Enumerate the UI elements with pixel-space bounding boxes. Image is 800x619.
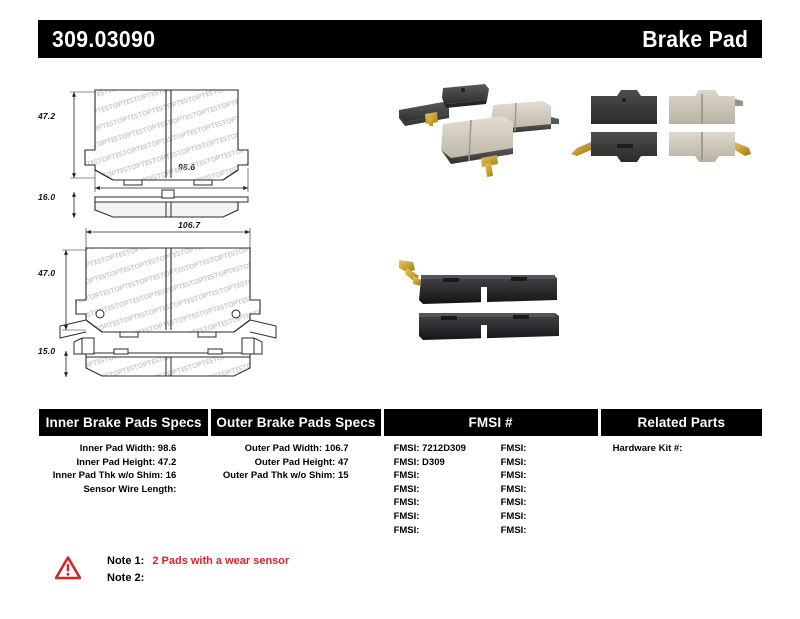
edge-profile-pad-photo <box>385 242 575 352</box>
related-parts-column: Hardware Kit #: <box>601 442 762 537</box>
header-outer-specs: Outer Brake Pads Specs <box>211 409 380 436</box>
fmsi-row: FMSI: D309 <box>384 456 491 470</box>
fmsi-row: FMSI: <box>491 483 598 497</box>
note-1-label: Note 1: <box>107 555 144 567</box>
angled-pad-set-photo <box>385 72 575 182</box>
page-header-bar: 309.03090 Brake Pad <box>38 20 762 58</box>
fmsi-row: FMSI: <box>491 469 598 483</box>
fmsi-row: FMSI: <box>384 524 491 538</box>
table-header-row: Inner Brake Pads Specs Outer Brake Pads … <box>39 409 762 436</box>
related-part-row: Hardware Kit #: <box>601 442 762 456</box>
part-number: 309.03090 <box>52 26 155 53</box>
pad-outline-drawings: STOPTECH <box>38 70 378 390</box>
warning-triangle-icon <box>55 556 81 580</box>
fmsi-column: FMSI: 7212D309 FMSI: D309 FMSI: FMSI: FM… <box>384 442 598 537</box>
specifications-table: Inner Brake Pads Specs Outer Brake Pads … <box>39 409 762 534</box>
note-1-line: Note 1: 2 Pads with a wear sensor <box>107 553 289 570</box>
outer-specs-column: Outer Pad Width: 106.7 Outer Pad Height:… <box>211 442 380 537</box>
fmsi-row: FMSI: <box>491 442 598 456</box>
fmsi-row: FMSI: <box>491 510 598 524</box>
fmsi-subcolumn-right: FMSI: FMSI: FMSI: FMSI: FMSI: FMSI: FMSI… <box>491 442 598 537</box>
header-inner-specs: Inner Brake Pads Specs <box>39 409 208 436</box>
fmsi-row: FMSI: <box>491 496 598 510</box>
header-related-parts: Related Parts <box>601 409 762 436</box>
inner-spec-row: Sensor Wire Length: <box>39 483 208 497</box>
outer-spec-row: Outer Pad Thk w/o Shim: 15 <box>211 469 380 483</box>
inner-spec-row: Inner Pad Height: 47.2 <box>39 456 208 470</box>
table-body: Inner Pad Width: 98.6 Inner Pad Height: … <box>39 442 762 537</box>
inner-spec-row: Inner Pad Width: 98.6 <box>39 442 208 456</box>
note-1-value: 2 Pads with a wear sensor <box>152 555 289 567</box>
product-photos-panel <box>385 72 775 382</box>
fmsi-row: FMSI: 7212D309 <box>384 442 491 456</box>
fmsi-row: FMSI: <box>384 510 491 524</box>
fmsi-row: FMSI: <box>491 524 598 538</box>
inner-spec-row: Inner Pad Thk w/o Shim: 16 <box>39 469 208 483</box>
fmsi-row: FMSI: <box>491 456 598 470</box>
fmsi-subcolumn-left: FMSI: 7212D309 FMSI: D309 FMSI: FMSI: FM… <box>384 442 491 537</box>
top-down-pad-set-photo <box>565 72 755 182</box>
outer-spec-row: Outer Pad Width: 106.7 <box>211 442 380 456</box>
fmsi-row: FMSI: <box>384 469 491 483</box>
header-fmsi: FMSI # <box>384 409 598 436</box>
note-2-label: Note 2: <box>107 572 144 584</box>
outer-spec-row: Outer Pad Height: 47 <box>211 456 380 470</box>
product-type-label: Brake Pad <box>642 26 748 53</box>
note-2-line: Note 2: <box>107 570 289 587</box>
notes-section: Note 1: 2 Pads with a wear sensor Note 2… <box>55 553 289 587</box>
fmsi-row: FMSI: <box>384 496 491 510</box>
fmsi-row: FMSI: <box>384 483 491 497</box>
notes-text-block: Note 1: 2 Pads with a wear sensor Note 2… <box>107 553 289 587</box>
technical-drawings-panel: 47.2 98.6 16.0 106.7 47.0 15.0 STOPTECH <box>38 70 378 390</box>
inner-specs-column: Inner Pad Width: 98.6 Inner Pad Height: … <box>39 442 208 537</box>
